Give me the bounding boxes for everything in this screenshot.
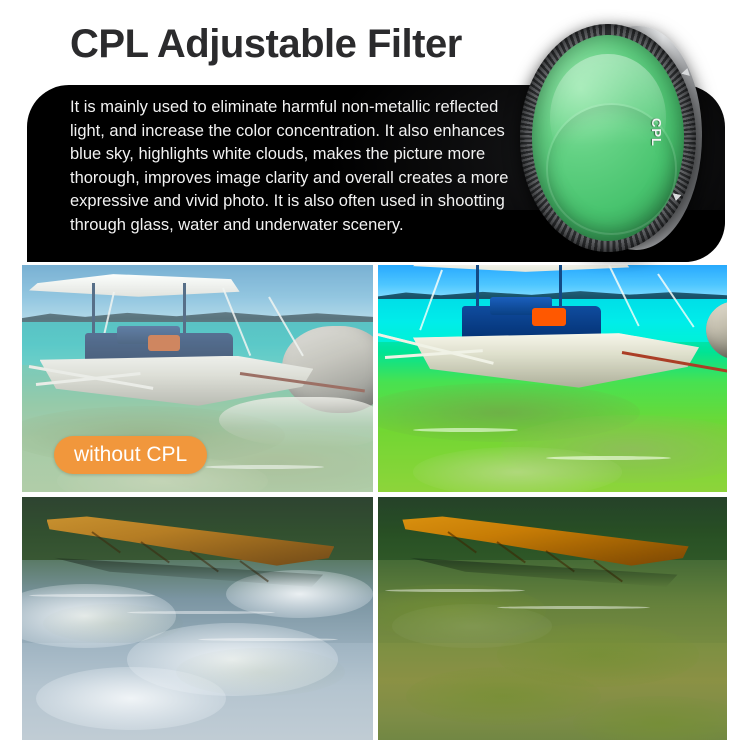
cloud-reflection (392, 604, 553, 648)
badge-without-cpl-top: without CPL (54, 436, 207, 474)
boat-gear (532, 308, 567, 326)
underwater-weed (176, 648, 344, 697)
underwater-weed (43, 604, 183, 643)
wave-line (546, 456, 672, 460)
river-scene-with-cpl (378, 497, 727, 740)
boat-gear (148, 335, 180, 351)
comparison-panel-top-right: with CPL (378, 265, 727, 492)
product-info-card: CPL Adjustable Filter It is mainly used … (0, 0, 750, 750)
comparison-panel-bottom-right: with CPL (378, 497, 727, 740)
description-text: It is mainly used to eliminate harmful n… (70, 96, 535, 237)
comparison-panel-top-left: without CPL (22, 265, 373, 492)
comparison-grid: without CPL (22, 265, 727, 740)
cpl-filter-product-image: CPL (512, 18, 722, 258)
page-title: CPL Adjustable Filter (70, 22, 462, 67)
underwater-weed (406, 667, 601, 725)
river-scene-without-cpl (22, 497, 373, 740)
wave-line (205, 465, 324, 469)
filter-cpl-label: CPL (649, 118, 664, 147)
reef-patch (413, 447, 622, 492)
ripple-line (198, 638, 338, 641)
beach-scene-with-cpl (378, 265, 727, 492)
comparison-panel-bottom-left: without CPL (22, 497, 373, 740)
